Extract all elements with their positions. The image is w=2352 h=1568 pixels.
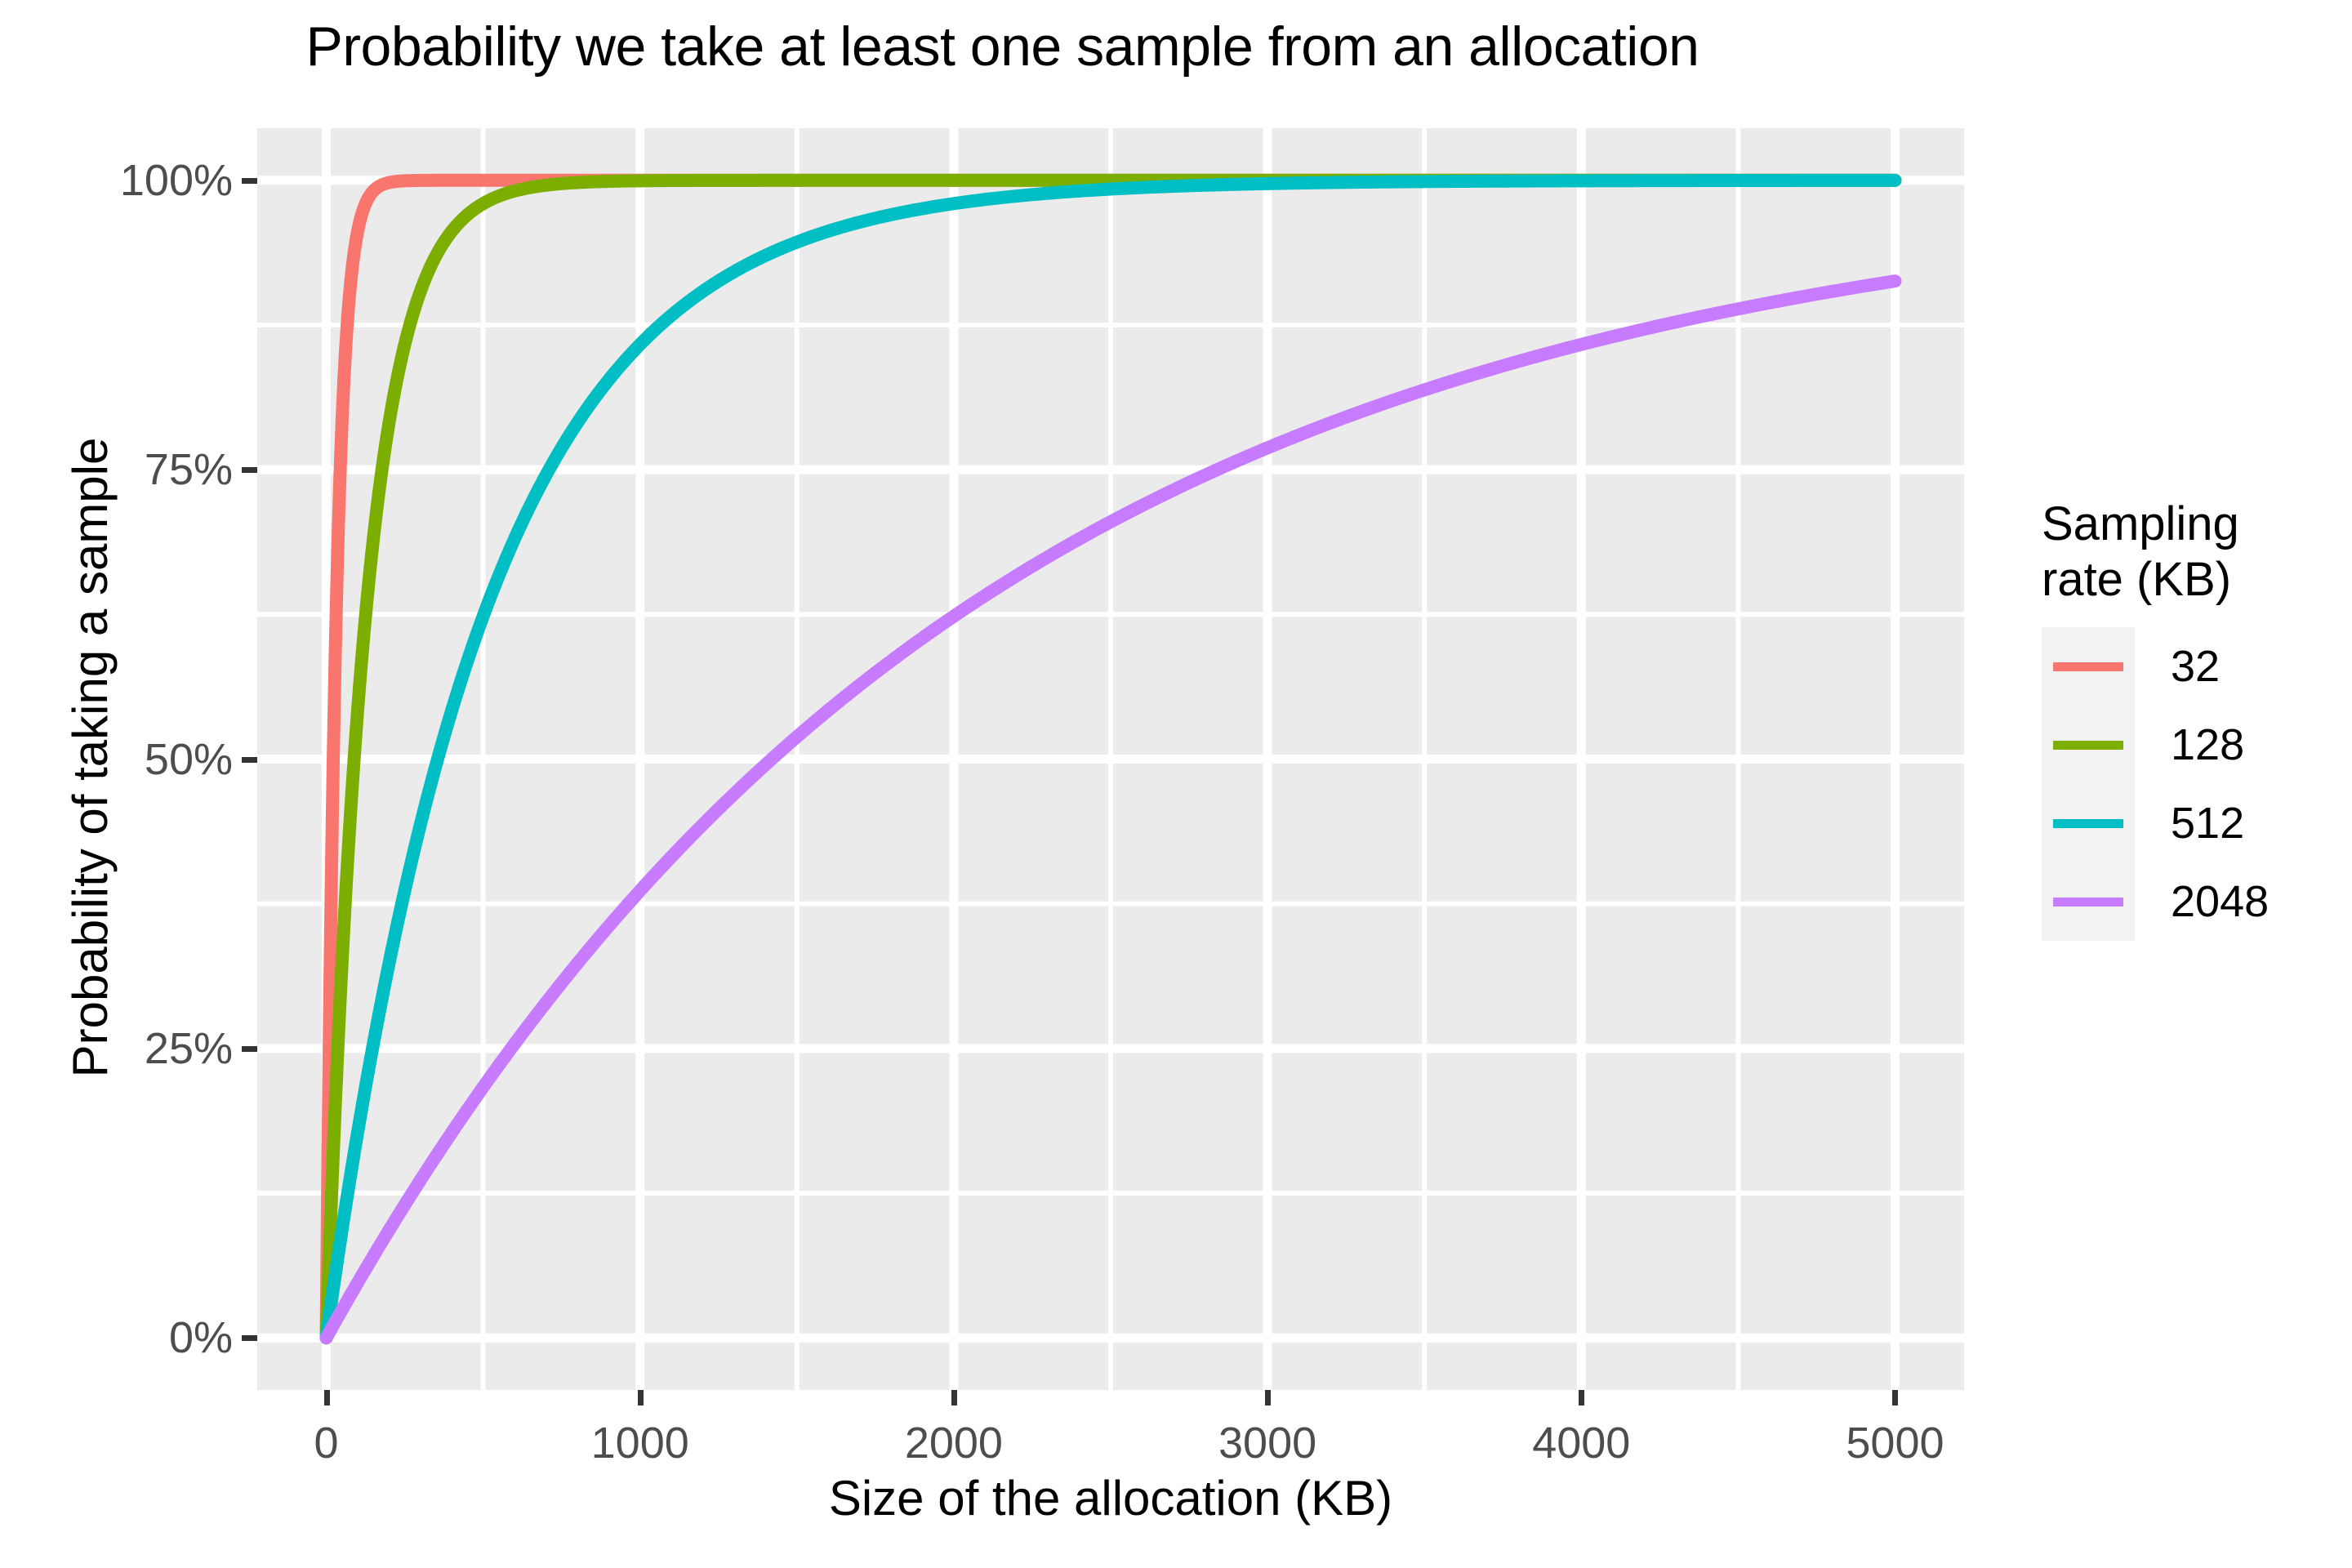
legend-title-line-1: Sampling	[2042, 497, 2336, 552]
x-tick-mark	[1892, 1390, 1898, 1405]
y-tick-label: 75%	[145, 448, 233, 492]
x-tick-mark	[1265, 1390, 1271, 1405]
y-tick-mark	[242, 467, 257, 473]
x-tick-mark	[324, 1390, 330, 1405]
x-axis-title: Size of the allocation (KB)	[257, 1470, 1964, 1527]
legend-color-swatch-icon	[2053, 819, 2123, 828]
y-tick-mark	[242, 1335, 257, 1341]
chart-root: Probability we take at least one sample …	[0, 0, 2352, 1568]
legend-item-label: 512	[2171, 801, 2244, 845]
legend-item-128[interactable]: 128	[2042, 706, 2336, 784]
legend-swatch-wrap	[2042, 627, 2135, 706]
x-tick-label: 2000	[905, 1421, 1003, 1465]
legend-item-32[interactable]: 32	[2042, 627, 2336, 706]
x-tick-label: 3000	[1218, 1421, 1316, 1465]
legend-title: Sampling rate (KB)	[2042, 497, 2336, 608]
page-title: Probability we take at least one sample …	[0, 15, 2005, 78]
legend-item-2048[interactable]: 2048	[2042, 862, 2336, 941]
legend-item-512[interactable]: 512	[2042, 784, 2336, 862]
legend-item-label: 32	[2171, 644, 2220, 688]
y-tick-mark	[242, 1046, 257, 1052]
x-tick-label: 0	[314, 1421, 338, 1465]
legend-color-swatch-icon	[2053, 662, 2123, 671]
legend-color-swatch-icon	[2053, 741, 2123, 750]
legend-title-line-2: rate (KB)	[2042, 552, 2336, 608]
y-tick-label: 0%	[169, 1316, 233, 1360]
legend: Sampling rate (KB) 321285122048	[2042, 497, 2336, 941]
plot-canvas	[257, 128, 1964, 1390]
y-tick-label: 50%	[145, 737, 233, 782]
legend-keys: 321285122048	[2042, 627, 2336, 941]
legend-item-label: 128	[2171, 723, 2244, 767]
x-tick-label: 1000	[591, 1421, 689, 1465]
x-tick-label: 4000	[1532, 1421, 1630, 1465]
legend-swatch-wrap	[2042, 862, 2135, 941]
x-tick-mark	[951, 1390, 957, 1405]
x-tick-label: 5000	[1846, 1421, 1944, 1465]
x-tick-mark	[638, 1390, 644, 1405]
y-tick-mark	[242, 757, 257, 763]
x-tick-mark	[1579, 1390, 1584, 1405]
y-tick-label: 100%	[120, 158, 233, 203]
legend-color-swatch-icon	[2053, 898, 2123, 906]
legend-swatch-wrap	[2042, 784, 2135, 862]
y-axis-title: Probability of taking a sample	[60, 127, 121, 1388]
legend-item-label: 2048	[2171, 880, 2269, 924]
legend-swatch-wrap	[2042, 706, 2135, 784]
y-tick-mark	[242, 178, 257, 184]
y-tick-label: 25%	[145, 1027, 233, 1071]
plot-panel	[257, 128, 1964, 1390]
